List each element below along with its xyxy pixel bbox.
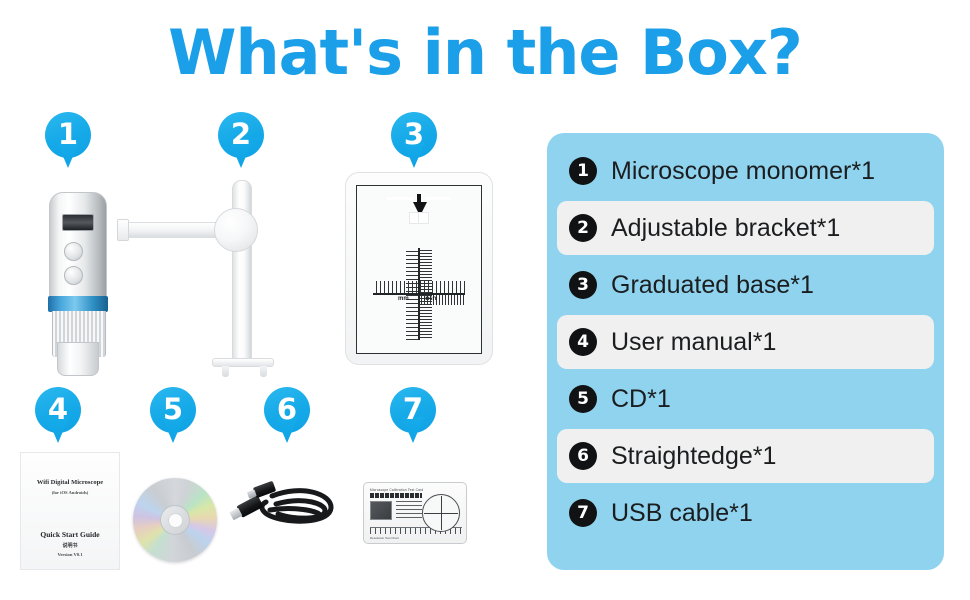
base-crosshair-horizontal xyxy=(373,293,465,295)
card-footer: Resolution Test Chart xyxy=(370,536,399,540)
legend-label-7: USB cable*1 xyxy=(611,499,753,528)
legend-item-3[interactable]: 3 Graduated base*1 xyxy=(557,258,934,312)
legend-label-3: Graduated base*1 xyxy=(611,271,814,300)
marker-pin-3: 3 xyxy=(391,112,437,170)
microscope-blue-band xyxy=(48,296,108,312)
legend-label-6: Straightedge*1 xyxy=(611,442,776,471)
page-title: What's in the Box? xyxy=(0,16,970,89)
legend-badge-3: 3 xyxy=(569,271,597,299)
bracket-leg-left xyxy=(222,366,229,377)
product-image-graduated-base: mm inch xyxy=(345,172,493,365)
base-tab-right xyxy=(418,212,429,224)
legend-item-7[interactable]: 7 USB cable*1 xyxy=(557,486,934,540)
legend-item-2[interactable]: 2 Adjustable bracket*1 xyxy=(557,201,934,255)
marker-pin-1: 1 xyxy=(45,112,91,170)
pin-number: 4 xyxy=(35,387,81,431)
product-image-straightedge-card: Microscope Calibration Test Card Resolut… xyxy=(363,482,467,544)
microscope-lens xyxy=(57,342,99,376)
manual-guide-heading: Quick Start Guide xyxy=(21,530,119,539)
legend-badge-6: 6 xyxy=(569,442,597,470)
legend-badge-5: 5 xyxy=(569,385,597,413)
manual-version: Version V0.1 xyxy=(21,552,119,557)
product-image-cd xyxy=(133,478,217,562)
legend-item-6[interactable]: 6 Straightedge*1 xyxy=(557,429,934,483)
graduated-base-plate: mm inch xyxy=(356,185,482,354)
product-image-usb-cable xyxy=(232,478,338,538)
microscope-button-top xyxy=(64,242,83,261)
base-notch-left xyxy=(387,197,413,200)
product-image-microscope-monomer xyxy=(43,192,115,372)
infographic-canvas: What's in the Box? 1 2 3 4 5 6 7 xyxy=(0,0,970,600)
product-image-user-manual: Wifi Digital Microscope (for iOS Android… xyxy=(20,452,120,570)
card-line-pattern xyxy=(396,501,422,521)
pin-number: 5 xyxy=(150,387,196,431)
pin-number: 6 xyxy=(264,387,310,431)
marker-pin-5: 5 xyxy=(150,387,196,445)
cd-center-hole xyxy=(168,513,183,528)
microscope-screen xyxy=(62,214,94,231)
bracket-knob xyxy=(214,208,258,252)
marker-pin-4: 4 xyxy=(35,387,81,445)
microscope-button-bottom xyxy=(64,266,83,285)
marker-pin-6: 6 xyxy=(264,387,310,445)
bracket-clip xyxy=(117,219,129,241)
pin-number: 2 xyxy=(218,112,264,156)
legend-item-5[interactable]: 5 CD*1 xyxy=(557,372,934,426)
marker-pin-7: 7 xyxy=(390,387,436,445)
legend-badge-1: 1 xyxy=(569,157,597,185)
manual-guide-heading-cn: 说明书 xyxy=(21,542,119,549)
legend-item-4[interactable]: 4 User manual*1 xyxy=(557,315,934,369)
card-grayscale-blocks xyxy=(370,493,422,498)
legend-badge-7: 7 xyxy=(569,499,597,527)
card-target-horizontal xyxy=(424,513,458,514)
card-crosshair-target xyxy=(422,494,460,532)
manual-subtitle: (for iOS Androids) xyxy=(21,490,119,495)
legend-item-1[interactable]: 1 Microscope monomer*1 xyxy=(557,144,934,198)
manual-title: Wifi Digital Microscope xyxy=(21,479,119,486)
base-notch-right xyxy=(425,197,451,200)
legend-label-4: User manual*1 xyxy=(611,328,776,357)
marker-pin-2: 2 xyxy=(218,112,264,170)
pin-number: 3 xyxy=(391,112,437,156)
pin-number: 7 xyxy=(390,387,436,431)
legend-label-2: Adjustable bracket*1 xyxy=(611,214,840,243)
bracket-leg-right xyxy=(260,366,267,377)
legend-label-5: CD*1 xyxy=(611,385,671,414)
legend-panel: 1 Microscope monomer*1 2 Adjustable brac… xyxy=(547,133,944,570)
base-scale-label-mm: mm xyxy=(398,296,409,302)
legend-badge-2: 2 xyxy=(569,214,597,242)
legend-badge-4: 4 xyxy=(569,328,597,356)
card-swatch xyxy=(370,501,392,520)
base-scale-label-inch: inch xyxy=(424,296,436,302)
pin-number: 1 xyxy=(45,112,91,156)
card-title: Microscope Calibration Test Card xyxy=(370,488,423,492)
product-image-adjustable-bracket xyxy=(112,180,282,378)
legend-label-1: Microscope monomer*1 xyxy=(611,157,875,186)
